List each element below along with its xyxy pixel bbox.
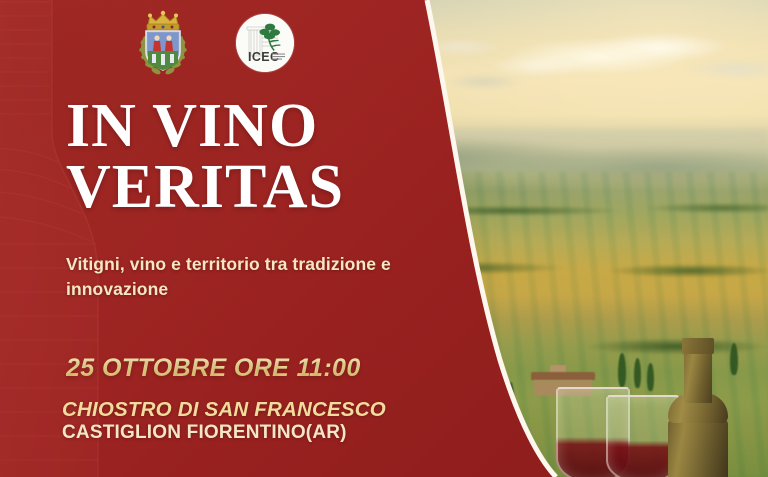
- logo-row: ICEC: [132, 8, 294, 78]
- event-datetime: 25 OTTOBRE ORE 11:00: [66, 354, 361, 383]
- poster: ICEC IN VINO VERITAS Vitigni, vino e ter…: [0, 0, 768, 477]
- poster-subtitle: Vitigni, vino e territorio tra tradizion…: [66, 252, 396, 302]
- bottle-cap: [682, 338, 714, 354]
- poster-content: ICEC IN VINO VERITAS Vitigni, vino e ter…: [0, 0, 440, 477]
- wine-still-life: [538, 327, 768, 477]
- event-city: CASTIGLION FIORENTINO(AR): [62, 422, 347, 444]
- page-title: IN VINO VERITAS: [66, 96, 438, 218]
- bottle-body: [668, 419, 728, 477]
- icec-logo: ICEC: [236, 14, 294, 72]
- wine-bottle: [666, 341, 730, 477]
- event-venue: CHIOSTRO DI SAN FRANCESCO: [62, 398, 386, 422]
- title-line-2: VERITAS: [66, 157, 438, 218]
- coat-of-arms-icon: [132, 8, 194, 78]
- title-line-1: IN VINO: [66, 92, 318, 160]
